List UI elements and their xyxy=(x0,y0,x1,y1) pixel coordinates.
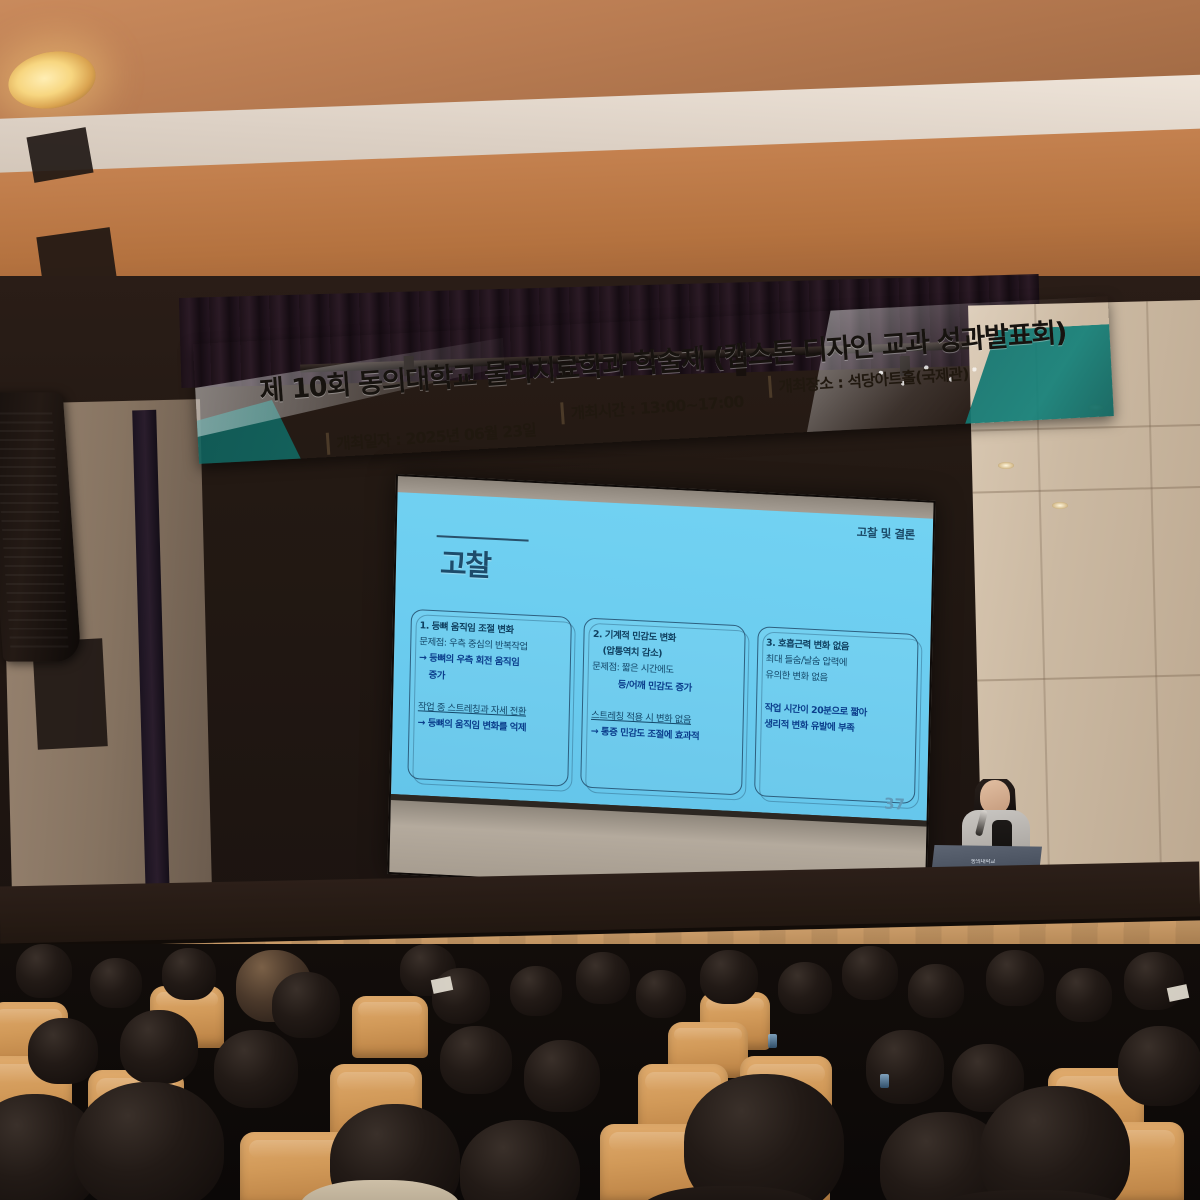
audience-head xyxy=(1056,968,1112,1022)
audience-head xyxy=(986,950,1044,1006)
slide-content-boxes: 1. 등뼈 움직임 조절 변화 문제점: 우측 중심의 반복작업 → 등뼈의 우… xyxy=(407,609,918,804)
audience-head xyxy=(16,944,72,998)
audience-head xyxy=(980,1086,1130,1200)
audience-head xyxy=(842,946,898,1000)
slide-section-label: 고찰 및 결론 xyxy=(857,524,915,543)
audience-head xyxy=(684,1074,844,1200)
audience-head xyxy=(908,964,964,1018)
ceiling-downlight-icon xyxy=(1052,502,1068,509)
presenter-head xyxy=(980,780,1010,814)
discussion-box-2: 2. 기계적 민감도 변화 (압통역치 감소) 문제점: 짧은 시간에도 등/어… xyxy=(581,617,746,795)
audience-head xyxy=(1124,952,1184,1010)
audience-head xyxy=(778,962,832,1014)
handout-paper xyxy=(1167,984,1189,1002)
audience-head xyxy=(214,1030,298,1108)
wall-seam xyxy=(971,424,1200,432)
audience-head xyxy=(28,1018,98,1084)
audience-head xyxy=(636,970,686,1018)
phone-screen xyxy=(880,1074,889,1088)
audience-head xyxy=(866,1030,944,1104)
audience-head xyxy=(120,1010,198,1084)
slide-page-number: 37 xyxy=(884,795,905,814)
wall-seam xyxy=(977,674,1200,682)
audience-head xyxy=(524,1040,600,1112)
audience-head xyxy=(432,968,490,1024)
audience-head xyxy=(460,1120,580,1200)
phone-screen xyxy=(768,1034,777,1048)
audience-head xyxy=(1118,1026,1200,1106)
ceiling-downlight-icon xyxy=(998,462,1014,469)
discussion-box-1: 1. 등뼈 움직임 조절 변화 문제점: 우측 중심의 반복작업 → 등뼈의 우… xyxy=(407,609,572,787)
audience-head xyxy=(510,966,562,1016)
audience-head xyxy=(272,972,340,1038)
seat xyxy=(352,996,428,1058)
wall-seam xyxy=(973,486,1200,494)
auditorium-scene: 제 10회 동의대학교 물리치료학과 학술제 (캡스톤 디자인 교과 성과발표회… xyxy=(0,0,1200,1200)
slide-title: 고찰 xyxy=(440,540,491,584)
audience-area xyxy=(0,944,1200,1200)
projection-screen: 고찰 및 결론 고찰 1. 등뼈 움직임 조절 변화 문제점: 우측 중심의 반… xyxy=(387,474,935,901)
discussion-box-3: 3. 호흡근력 변화 없음 최대 들숨/날숨 압력에 유의한 변화 없음 작업 … xyxy=(754,626,919,804)
audience-head xyxy=(162,948,216,1000)
audience-head xyxy=(74,1082,224,1200)
audience-head xyxy=(700,950,758,1004)
audience-head xyxy=(576,952,630,1004)
banner-time: 개최시간 : 13:00~17:00 xyxy=(560,390,744,425)
audience-head xyxy=(90,958,142,1008)
audience-head xyxy=(440,1026,512,1094)
presentation-slide: 고찰 및 결론 고찰 1. 등뼈 움직임 조절 변화 문제점: 우측 중심의 반… xyxy=(391,492,933,821)
